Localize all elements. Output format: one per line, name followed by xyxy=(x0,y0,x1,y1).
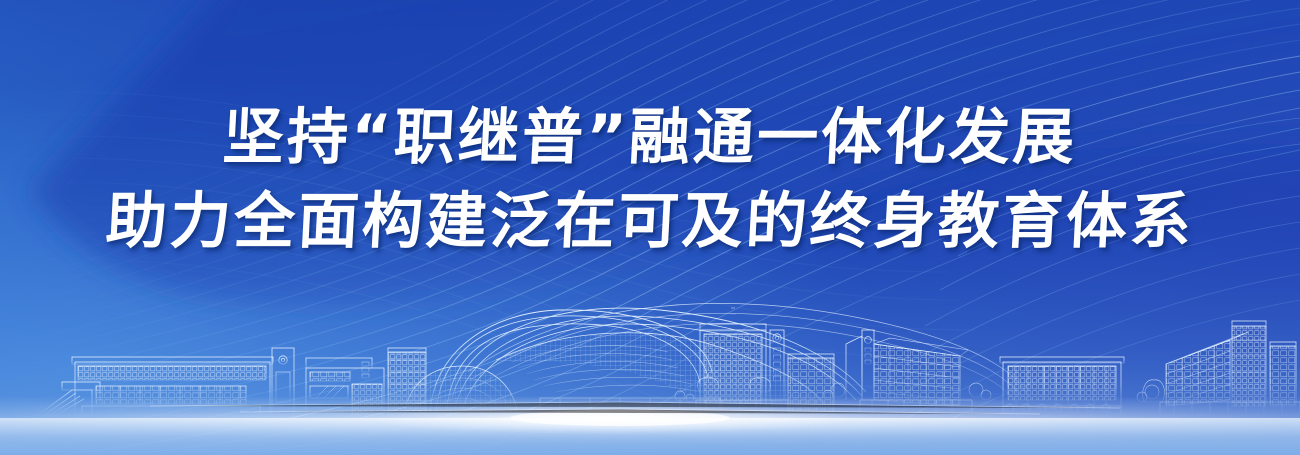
horizon-glow-band xyxy=(0,0,1300,455)
banner-root: 坚持“职继普”融通一体化发展 助力全面构建泛在可及的终身教育体系 xyxy=(0,0,1300,455)
